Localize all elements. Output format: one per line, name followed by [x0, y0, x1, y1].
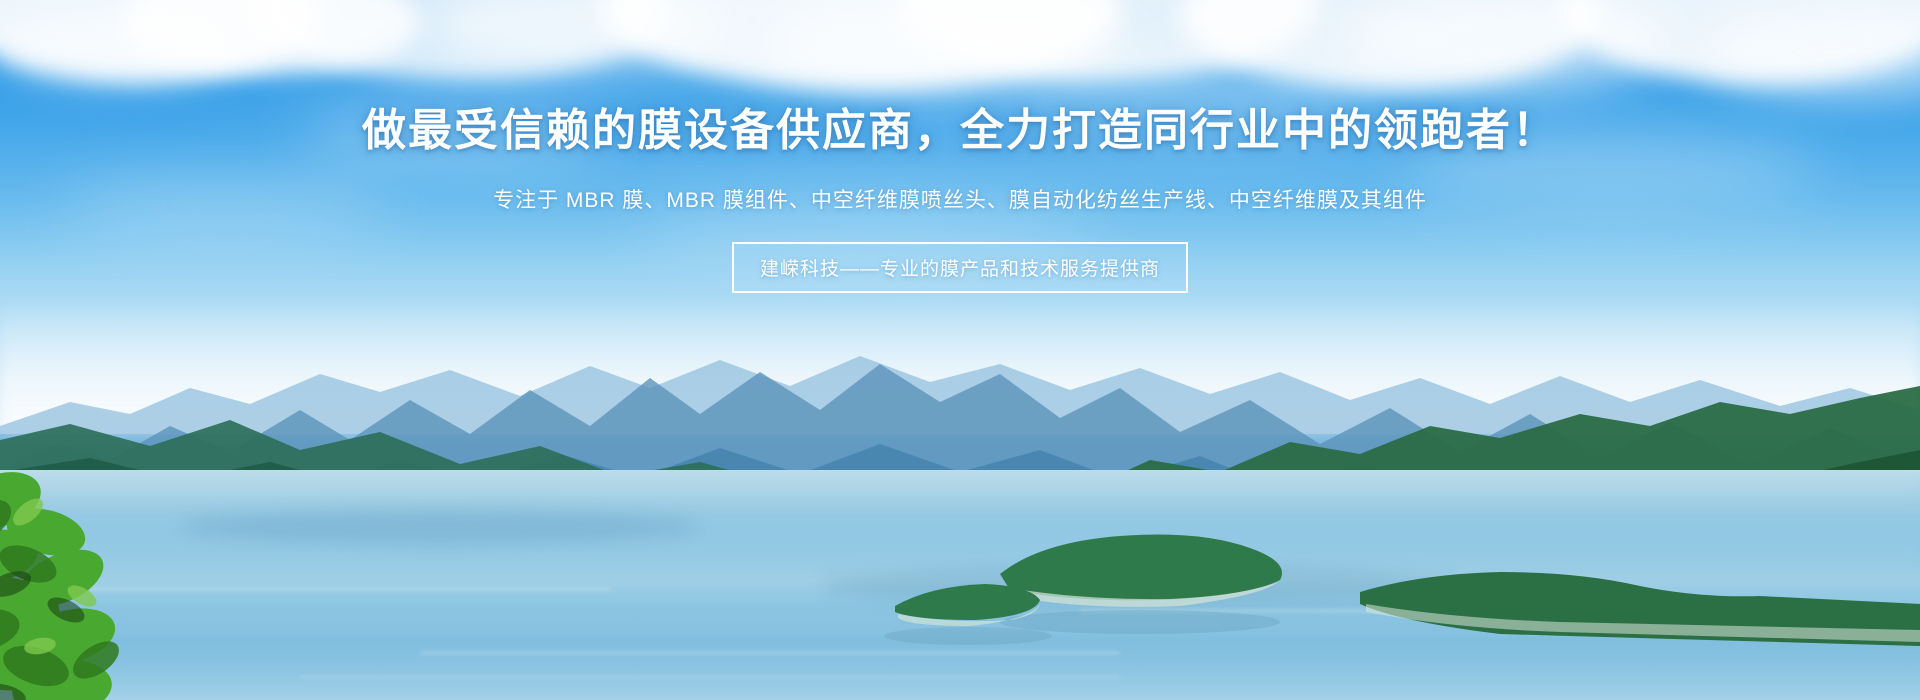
foreground-foliage [0, 460, 180, 700]
cloud-shape [60, 175, 390, 235]
island-right [1360, 572, 1920, 646]
banner-tagline-box[interactable]: 建嵘科技——专业的膜产品和技术服务提供商 [732, 242, 1188, 293]
cloud-shape [1020, 60, 1400, 130]
hero-banner: 做最受信赖的膜设备供应商，全力打造同行业中的领跑者！ 专注于 MBR 膜、MBR… [0, 0, 1920, 700]
cloud-shape [1400, 130, 1820, 204]
island-small [884, 584, 1052, 645]
island-large [1000, 535, 1282, 635]
water-surface [0, 470, 1920, 700]
cloud-shape [300, 105, 600, 163]
cloud-shape [0, 10, 240, 80]
